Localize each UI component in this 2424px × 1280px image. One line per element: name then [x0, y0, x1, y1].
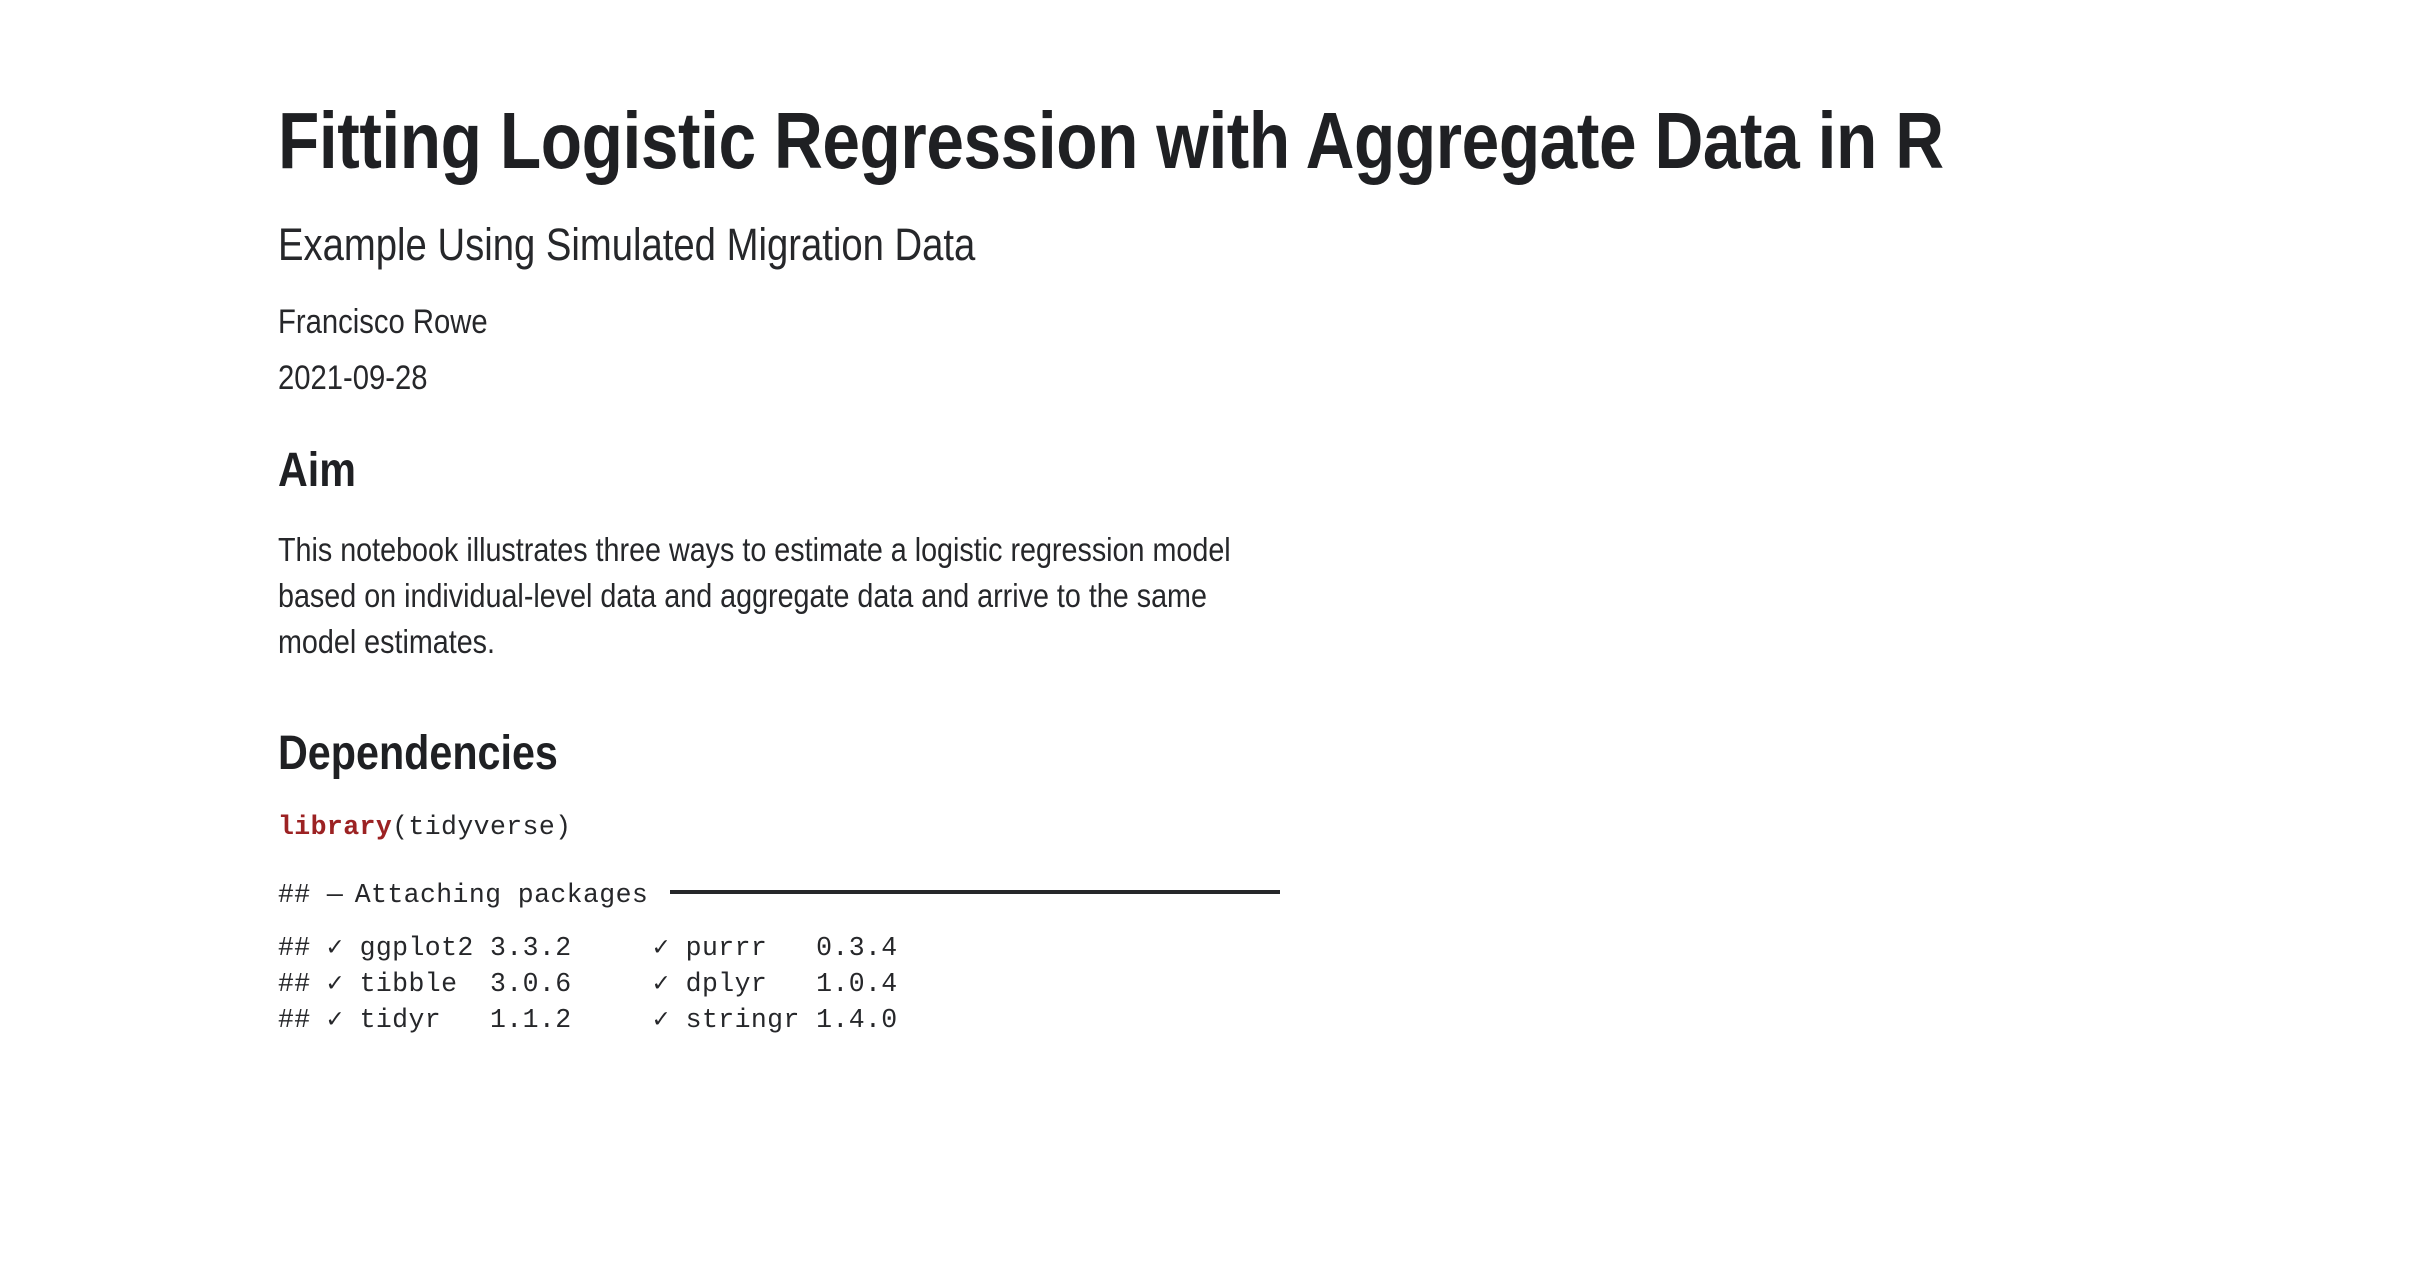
output-version-line-1: ## ✓ ggplot2 3.3.2 ✓ purrr 0.3.4 [278, 933, 898, 963]
publication-date: 2021-09-28 [278, 342, 2015, 398]
output-attaching-label: Attaching packages [355, 880, 665, 910]
output-horizontal-rule [670, 890, 1280, 894]
document-page: Fitting Logistic Regression with Aggrega… [0, 0, 2424, 1280]
code-block-library: library(tidyverse) [278, 779, 2298, 845]
section-heading-aim: Aim [278, 398, 2015, 496]
console-output-package-versions: ## ✓ ggplot2 3.3.2 ✓ purrr 0.3.4 ## ✓ ti… [278, 913, 2298, 1038]
code-keyword-library: library [278, 812, 392, 842]
output-comment-prefix: ## [278, 880, 327, 910]
page-title: Fitting Logistic Regression with Aggrega… [278, 0, 1985, 182]
document-content: Fitting Logistic Regression with Aggrega… [278, 0, 2298, 1038]
console-output-attaching: ## — Attaching packages [278, 845, 2298, 913]
section-heading-dependencies: Dependencies [278, 665, 2015, 779]
output-version-line-2: ## ✓ tibble 3.0.6 ✓ dplyr 1.0.4 [278, 969, 898, 999]
output-version-line-3: ## ✓ tidyr 1.1.2 ✓ stringr 1.4.0 [278, 1005, 898, 1035]
output-dash-glyph: — [327, 880, 355, 910]
author-name: Francisco Rowe [278, 269, 2015, 342]
page-subtitle: Example Using Simulated Migration Data [278, 182, 1995, 270]
code-args-tidyverse: (tidyverse) [392, 812, 571, 842]
section-paragraph-aim: This notebook illustrates three ways to … [278, 497, 1244, 665]
